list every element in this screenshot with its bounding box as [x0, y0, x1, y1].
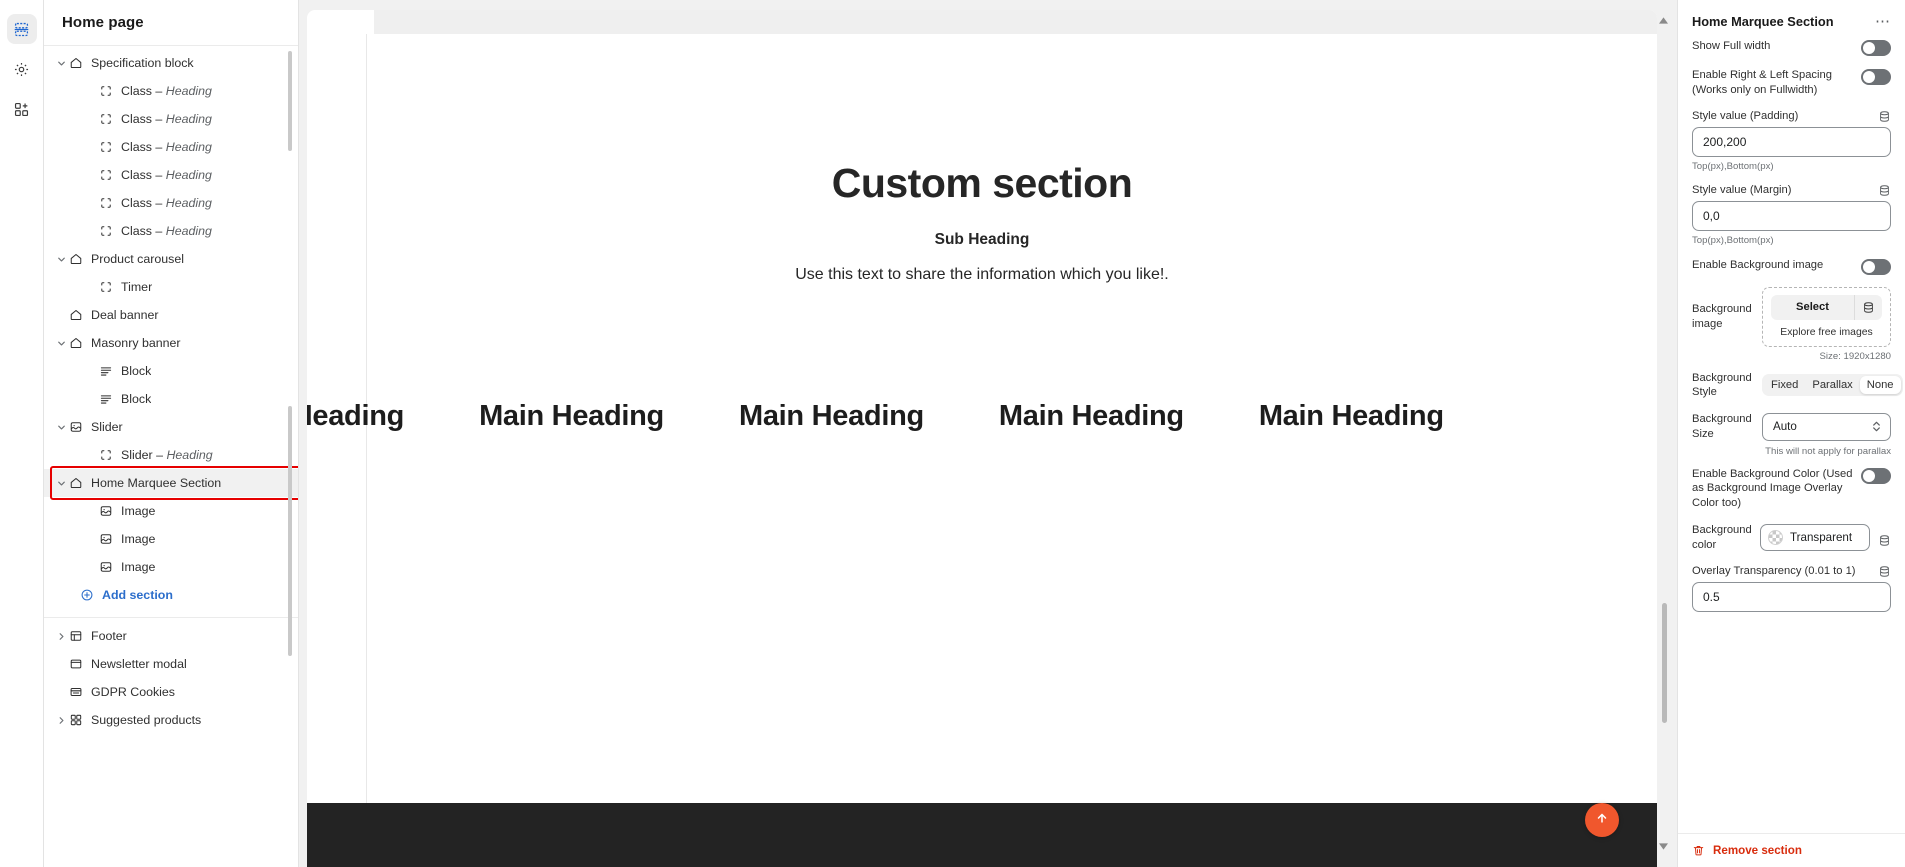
home-icon — [68, 307, 84, 323]
tree-item-label: Block — [121, 364, 151, 378]
field-background-color: Background color Transparent — [1692, 523, 1891, 553]
tree-item-image[interactable]: Image — [44, 525, 298, 553]
sections-sidebar: Home page Specification blockClass – Hea… — [44, 0, 299, 867]
overlay-transparency-label: Overlay Transparency (0.01 to 1) — [1692, 565, 1856, 577]
tree-item-class[interactable]: Class – Heading — [44, 217, 298, 245]
sections-tree: Specification blockClass – HeadingClass … — [44, 46, 298, 867]
tree-item-home-marquee-section[interactable]: Home Marquee Section — [44, 469, 298, 497]
enable-bg-image-label: Enable Background image — [1692, 258, 1823, 273]
preview-heading: Custom section — [307, 160, 1657, 207]
background-color-picker[interactable]: Transparent — [1760, 524, 1870, 551]
database-icon[interactable] — [1878, 184, 1891, 197]
tree-item-label: Timer — [121, 280, 152, 294]
tree-item-class[interactable]: Class – Heading — [44, 189, 298, 217]
tree-item-image[interactable]: Image — [44, 497, 298, 525]
tree-item-label: Masonry banner — [91, 336, 181, 350]
transparent-swatch-icon — [1768, 530, 1783, 545]
background-size-hint: This will not apply for parallax — [1692, 446, 1891, 457]
trash-icon — [1692, 844, 1705, 857]
canvas-scrollbar-thumb[interactable] — [1662, 603, 1667, 723]
page-title: Home page — [62, 14, 144, 31]
field-background-style: Background Style FixedParallaxNone — [1692, 371, 1891, 401]
block-icon — [98, 223, 114, 239]
tree-item-label-emphasis: Heading — [166, 448, 212, 462]
tree-item-label-emphasis: Heading — [166, 112, 212, 126]
field-background-image: Background image Select Explore free im — [1692, 287, 1891, 362]
right-left-spacing-toggle[interactable] — [1861, 69, 1891, 85]
background-size-select[interactable]: Auto — [1762, 413, 1891, 441]
tree-item-timer[interactable]: Timer — [44, 273, 298, 301]
sidebar-scrollbar-thumb-top[interactable] — [288, 51, 292, 151]
panel-header: Home Marquee Section ⋯ — [1678, 0, 1905, 39]
preview-footer-band — [307, 803, 1657, 867]
panel-title: Home Marquee Section — [1692, 14, 1834, 29]
tree-item-label-emphasis: Heading — [166, 224, 212, 238]
preview-subheading: Sub Heading — [307, 231, 1657, 249]
sidebar-scrollbar-track[interactable] — [291, 46, 295, 855]
image-icon — [98, 503, 114, 519]
block-icon — [98, 279, 114, 295]
background-color-value: Transparent — [1790, 531, 1862, 544]
chevron-right-icon[interactable] — [54, 713, 68, 727]
tree-item-label: Block — [121, 392, 151, 406]
tree-item-label: Class – Heading — [121, 112, 212, 126]
padding-label: Style value (Padding) — [1692, 110, 1798, 122]
image-icon — [98, 531, 114, 547]
marquee-item: Main Heading — [999, 400, 1184, 433]
background-image-dropzone[interactable]: Select Explore free images — [1762, 287, 1891, 347]
tree-item-label: Slider – Heading — [121, 448, 213, 462]
tree-item-label: Class – Heading — [121, 168, 212, 182]
chevron-down-icon[interactable] — [54, 252, 68, 266]
tree-divider — [44, 617, 298, 618]
arrow-up-icon — [1595, 811, 1609, 830]
tree-item-label-emphasis: Heading — [166, 140, 212, 154]
tree-item-label: GDPR Cookies — [91, 685, 175, 699]
background-image-size-hint: Size: 1920x1280 — [1692, 351, 1891, 362]
block-icon — [98, 83, 114, 99]
image-icon — [68, 419, 84, 435]
rail-sections-button[interactable] — [7, 14, 37, 44]
tree-item-label-emphasis: Heading — [166, 168, 212, 182]
rail-apps-button[interactable] — [7, 94, 37, 124]
tree-item-gdpr-cookies[interactable]: GDPR Cookies — [44, 678, 298, 706]
tree-item-label: Class – Heading — [121, 224, 212, 238]
tree-item-label: Class – Heading — [121, 196, 212, 210]
preview-marquee[interactable]: ain HeadingMain HeadingMain HeadingMain … — [307, 384, 1657, 448]
margin-label: Style value (Margin) — [1692, 184, 1791, 196]
block-icon — [98, 111, 114, 127]
select-image-label: Select — [1771, 301, 1854, 313]
field-right-left-spacing: Enable Right & Left Spacing (Works only … — [1692, 68, 1891, 98]
preview-hero: Custom section Sub Heading Use this text… — [307, 160, 1657, 284]
background-size-value: Auto — [1773, 420, 1797, 433]
apps-add-icon — [13, 101, 30, 118]
chevron-down-icon[interactable] — [54, 336, 68, 350]
plus-circle-icon — [80, 588, 94, 602]
tree-item-block[interactable]: Block — [44, 357, 298, 385]
tree-item-label: Deal banner — [91, 308, 159, 322]
preview-divider — [366, 34, 367, 867]
preview-top-band — [374, 10, 1657, 34]
cookie-icon — [68, 684, 84, 700]
add-section-button[interactable]: Add section — [44, 581, 298, 609]
remove-section-button[interactable]: Remove section — [1678, 833, 1905, 867]
database-icon[interactable] — [1855, 301, 1882, 314]
tree-item-label: Footer — [91, 629, 127, 643]
show-full-width-toggle[interactable] — [1861, 40, 1891, 56]
block-icon — [98, 139, 114, 155]
panel-body: Show Full width Enable Right & Left Spac… — [1678, 39, 1905, 833]
tree-item-class[interactable]: Class – Heading — [44, 105, 298, 133]
sections-icon — [13, 21, 30, 38]
layout-icon — [68, 628, 84, 644]
properties-panel: Home Marquee Section ⋯ Show Full width E… — [1677, 0, 1905, 867]
tree-item-label: Class – Heading — [121, 140, 212, 154]
database-icon[interactable] — [1878, 534, 1891, 547]
field-overlay-transparency: Overlay Transparency (0.01 to 1) — [1692, 565, 1891, 612]
tree-item-label: Product carousel — [91, 252, 184, 266]
remove-section-label: Remove section — [1713, 844, 1802, 857]
tree-item-label: Image — [121, 532, 155, 546]
tree-item-masonry-banner[interactable]: Masonry banner — [44, 329, 298, 357]
home-icon — [68, 335, 84, 351]
field-margin: Style value (Margin) Top(px),Bottom(px) — [1692, 184, 1891, 246]
right-left-spacing-label: Enable Right & Left Spacing (Works only … — [1692, 68, 1853, 98]
background-style-segmented[interactable]: FixedParallaxNone — [1762, 374, 1903, 396]
tree-item-label: Newsletter modal — [91, 657, 187, 671]
icon-rail — [0, 0, 44, 867]
database-icon[interactable] — [1878, 565, 1891, 578]
background-style-label: Background Style — [1692, 371, 1754, 401]
tree-item-newsletter-modal[interactable]: Newsletter modal — [44, 650, 298, 678]
tree-item-label: Image — [121, 504, 155, 518]
text-lines-icon — [98, 391, 114, 407]
home-icon — [68, 475, 84, 491]
enable-bg-color-toggle[interactable] — [1861, 468, 1891, 484]
field-enable-bg-image: Enable Background image — [1692, 258, 1891, 275]
margin-input[interactable] — [1692, 201, 1891, 231]
tree-item-label: Image — [121, 560, 155, 574]
tree-item-slider[interactable]: Slider — [44, 413, 298, 441]
marquee-item: Main Heading — [479, 400, 664, 433]
background-color-label: Background color — [1692, 523, 1752, 553]
tree-item-product-carousel[interactable]: Product carousel — [44, 245, 298, 273]
tree-item-deal-banner[interactable]: Deal banner — [44, 301, 298, 329]
enable-bg-color-label: Enable Background Color (Used as Backgro… — [1692, 467, 1853, 511]
tree-item-slider[interactable]: Slider – Heading — [44, 441, 298, 469]
add-section-label: Add section — [102, 588, 173, 602]
sidebar-header: Home page — [44, 0, 298, 46]
background-size-label: Background Size — [1692, 412, 1754, 442]
tree-item-footer[interactable]: Footer — [44, 622, 298, 650]
scroll-to-top-button[interactable] — [1585, 803, 1619, 837]
sidebar-scrollbar-thumb[interactable] — [288, 406, 292, 656]
tree-item-class[interactable]: Class – Heading — [44, 133, 298, 161]
home-icon — [68, 251, 84, 267]
chevron-right-icon[interactable] — [54, 629, 68, 643]
preview-frame[interactable]: Custom section Sub Heading Use this text… — [307, 10, 1657, 867]
tree-item-label-emphasis: Heading — [166, 196, 212, 210]
chevron-down-icon[interactable] — [54, 420, 68, 434]
margin-hint: Top(px),Bottom(px) — [1692, 235, 1891, 246]
tree-item-class[interactable]: Class – Heading — [44, 161, 298, 189]
tree-item-specification-block[interactable]: Specification block — [44, 49, 298, 77]
canvas-scrollbar[interactable] — [1663, 8, 1673, 859]
preview-body-text: Use this text to share the information w… — [307, 266, 1657, 284]
tree-item-label: Suggested products — [91, 713, 201, 727]
block-icon — [98, 195, 114, 211]
marquee-item: ain Heading — [307, 400, 404, 433]
show-full-width-label: Show Full width — [1692, 39, 1770, 54]
home-icon — [68, 55, 84, 71]
chevron-down-icon[interactable] — [54, 476, 68, 490]
overlay-transparency-input[interactable] — [1692, 582, 1891, 612]
kebab-icon[interactable]: ⋯ — [1875, 18, 1891, 26]
database-icon[interactable] — [1878, 110, 1891, 123]
block-icon — [98, 167, 114, 183]
scroll-down-arrow-icon[interactable] — [1659, 842, 1668, 851]
tree-item-image[interactable]: Image — [44, 553, 298, 581]
modal-icon — [68, 656, 84, 672]
tree-item-class[interactable]: Class – Heading — [44, 77, 298, 105]
field-show-full-width: Show Full width — [1692, 39, 1891, 56]
tree-item-label-emphasis: Heading — [166, 84, 212, 98]
text-lines-icon — [98, 363, 114, 379]
scroll-up-arrow-icon[interactable] — [1659, 16, 1668, 25]
tree-item-label: Class – Heading — [121, 84, 212, 98]
select-image-button[interactable]: Select — [1771, 295, 1882, 320]
chevron-updown-icon — [1871, 420, 1882, 433]
marquee-item: Main Heading — [739, 400, 924, 433]
field-enable-bg-color: Enable Background Color (Used as Backgro… — [1692, 467, 1891, 511]
padding-input[interactable] — [1692, 127, 1891, 157]
block-icon — [98, 447, 114, 463]
tree-item-label: Slider — [91, 420, 123, 434]
preview-canvas: Custom section Sub Heading Use this text… — [299, 0, 1677, 867]
chevron-down-icon[interactable] — [54, 56, 68, 70]
tree-item-suggested-products[interactable]: Suggested products — [44, 706, 298, 734]
image-icon — [98, 559, 114, 575]
enable-bg-image-toggle[interactable] — [1861, 259, 1891, 275]
padding-hint: Top(px),Bottom(px) — [1692, 161, 1891, 172]
field-background-size: Background Size Auto This will not apply… — [1692, 412, 1891, 457]
marquee-item: Main Heading — [1259, 400, 1444, 433]
background-image-label: Background image — [1692, 302, 1754, 332]
rail-settings-button[interactable] — [7, 54, 37, 84]
background-style-option-fixed[interactable]: Fixed — [1764, 376, 1805, 394]
background-style-option-none[interactable]: None — [1860, 376, 1901, 394]
gear-icon — [13, 61, 30, 78]
theme-editor-app: Home page Specification blockClass – Hea… — [0, 0, 1905, 867]
tree-item-label: Home Marquee Section — [91, 476, 221, 490]
explore-free-images-link[interactable]: Explore free images — [1771, 327, 1882, 338]
grid-icon — [68, 712, 84, 728]
field-padding: Style value (Padding) Top(px),Bottom(px) — [1692, 110, 1891, 172]
tree-item-label: Specification block — [91, 56, 194, 70]
tree-item-block[interactable]: Block — [44, 385, 298, 413]
background-style-option-parallax[interactable]: Parallax — [1805, 376, 1859, 394]
